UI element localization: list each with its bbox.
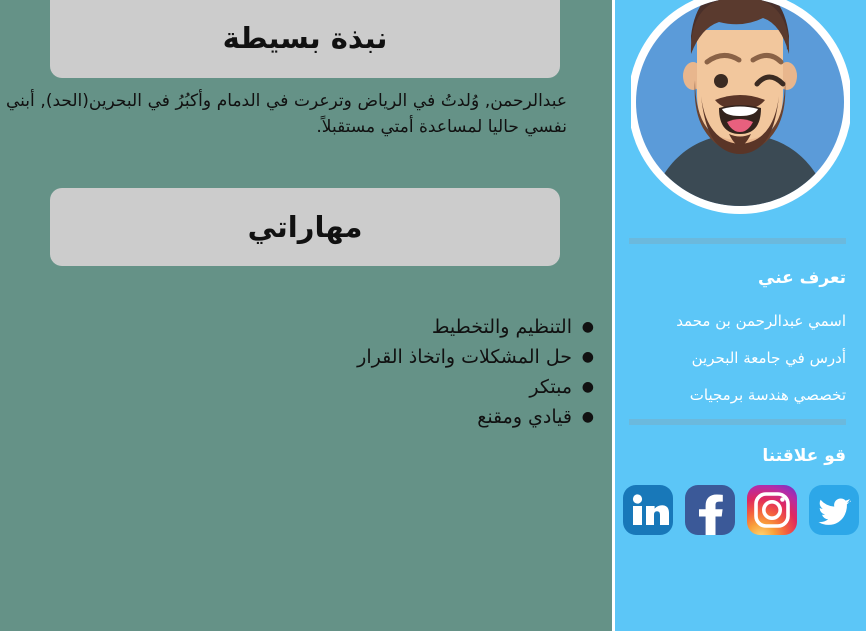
facebook-icon[interactable] [685, 485, 735, 535]
twitter-icon[interactable] [809, 485, 859, 535]
avatar [631, 0, 850, 224]
contact-heading: قو علاقتنا [762, 446, 846, 466]
about-section-title: نبذة بسيطة [223, 16, 388, 53]
sidebar-panel: تعرف عني اسمي عبدالرحمن بن محمد أدرس في … [615, 0, 866, 631]
instagram-icon[interactable] [747, 485, 797, 535]
about-me-line-university: أدرس في جامعة البحرين [692, 348, 846, 368]
about-section-body: عبدالرحمن, وُلدتُ في الرياض وترعرت في ال… [0, 88, 567, 140]
sidebar-divider-bottom [629, 419, 846, 425]
social-links [615, 485, 866, 535]
about-section-header: نبذة بسيطة [50, 0, 560, 78]
list-item: مبتكر [34, 372, 594, 402]
list-item: قيادي ومقنع [34, 402, 594, 432]
main-content-panel: نبذة بسيطة عبدالرحمن, وُلدتُ في الرياض و… [0, 0, 612, 631]
about-me-line-name: اسمي عبدالرحمن بن محمد [676, 311, 846, 331]
about-me-heading: تعرف عني [758, 268, 846, 288]
about-me-line-major: تخصصي هندسة برمجيات [690, 385, 846, 405]
list-item: التنظيم والتخطيط [34, 312, 594, 342]
linkedin-icon[interactable] [623, 485, 673, 535]
list-item: حل المشكلات واتخاذ القرار [34, 342, 594, 372]
skills-list: التنظيم والتخطيط حل المشكلات واتخاذ القر… [34, 312, 594, 432]
skills-section-header: مهاراتي [50, 188, 560, 266]
avatar-illustration-icon [631, 0, 850, 224]
sidebar-divider-top [629, 238, 846, 244]
cv-page: نبذة بسيطة عبدالرحمن, وُلدتُ في الرياض و… [0, 0, 866, 631]
skills-section-title: مهاراتي [248, 213, 363, 242]
